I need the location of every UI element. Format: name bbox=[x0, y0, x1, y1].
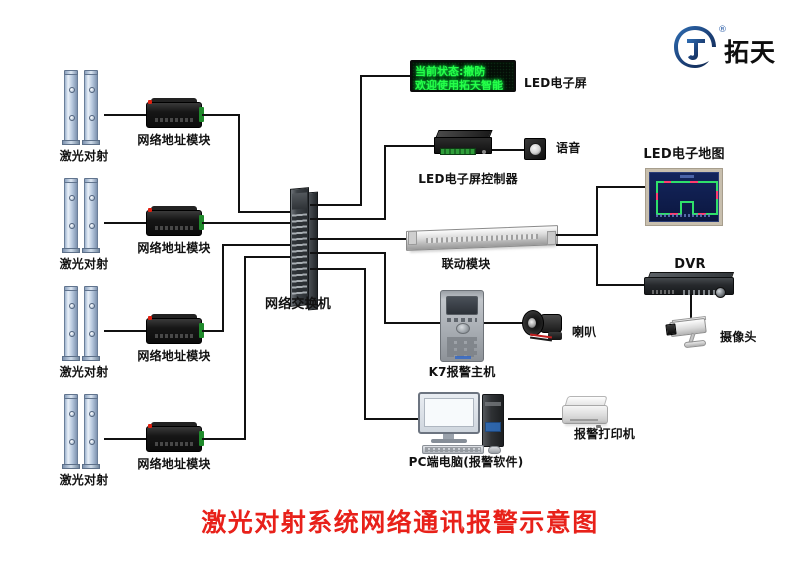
wire-to-led-map bbox=[596, 186, 646, 188]
address-module-label-3: 网络地址模块 bbox=[137, 350, 210, 364]
laser-label-4: 激光对射 bbox=[60, 474, 109, 488]
wire-pc-dropper bbox=[364, 268, 366, 420]
laser-label-3: 激光对射 bbox=[60, 366, 109, 380]
tuotian-logo-icon bbox=[672, 24, 718, 70]
wire-laser4-to-module4 bbox=[104, 438, 146, 440]
laser-beam-device-3 bbox=[62, 288, 106, 362]
led-screen-line2: 欢迎使用拓天智能 bbox=[415, 77, 511, 92]
wire-module2-to-switch bbox=[202, 222, 294, 224]
wire-ledctl-to-voice bbox=[492, 149, 524, 151]
wire-laser2-to-module2 bbox=[104, 222, 146, 224]
wire-ledctl-riser bbox=[384, 145, 386, 220]
wire-to-alarm-host bbox=[384, 322, 440, 324]
alarm-printer bbox=[562, 396, 610, 428]
address-module-3 bbox=[146, 314, 202, 347]
wire-ledmap-riser bbox=[596, 186, 598, 236]
camera-device bbox=[664, 318, 716, 352]
brand-logo: ® 拓天 bbox=[672, 24, 792, 74]
address-module-label-2: 网络地址模块 bbox=[137, 242, 210, 256]
wire-laser1-to-module1 bbox=[104, 114, 146, 116]
led-screen-controller bbox=[434, 130, 494, 160]
dvr-label: DVR bbox=[674, 258, 705, 273]
wire-switch-out-5 bbox=[310, 268, 366, 270]
wire-dvr-dropper bbox=[596, 244, 598, 286]
pc-workstation bbox=[418, 392, 514, 454]
wire-module3-riser bbox=[222, 244, 224, 332]
wire-module1-riser bbox=[238, 114, 240, 213]
wire-to-pc bbox=[364, 418, 420, 420]
address-module-label-4: 网络地址模块 bbox=[137, 458, 210, 472]
led-screen-label: LED电子屏 bbox=[524, 77, 587, 91]
pc-label: PC端电脑(报警软件) bbox=[409, 456, 524, 470]
wire-module1-out bbox=[202, 114, 240, 116]
led-controller-label: LED电子屏控制器 bbox=[418, 173, 518, 187]
company-name: 拓天 bbox=[724, 33, 776, 69]
linkage-module bbox=[406, 228, 558, 252]
printer-label: 报警打印机 bbox=[574, 428, 635, 442]
wire-laser3-to-module3 bbox=[104, 330, 146, 332]
laser-beam-device-4 bbox=[62, 396, 106, 470]
wire-ledscreen-riser bbox=[360, 75, 362, 206]
laser-beam-device-2 bbox=[62, 180, 106, 254]
led-electronic-map bbox=[645, 168, 723, 226]
horn-label: 喇叭 bbox=[572, 326, 596, 340]
voice-module bbox=[524, 138, 546, 160]
wire-module3-to-switch bbox=[222, 244, 294, 246]
network-switch bbox=[290, 188, 320, 310]
address-module-2 bbox=[146, 206, 202, 239]
wire-linkage-out-up bbox=[556, 234, 598, 236]
wire-switch-out-1 bbox=[310, 204, 362, 206]
diagram-canvas: ® 拓天 激光对射 网络地址模块 激光对射 网络地址模块 激光对射 网络地址模块 bbox=[0, 0, 800, 579]
laser-label-2: 激光对射 bbox=[60, 258, 109, 272]
wire-module4-riser bbox=[244, 256, 246, 440]
wire-switch-to-linkage bbox=[310, 238, 406, 240]
laser-label-1: 激光对射 bbox=[60, 150, 109, 164]
address-module-4 bbox=[146, 422, 202, 455]
laser-beam-device-1 bbox=[62, 72, 106, 146]
k7-alarm-host bbox=[440, 290, 484, 362]
wire-k7-dropper bbox=[384, 252, 386, 324]
wire-module4-to-switch bbox=[244, 256, 294, 258]
wire-module3-out bbox=[202, 330, 224, 332]
address-module-1 bbox=[146, 98, 202, 131]
diagram-title: 激光对射系统网络通讯报警示意图 bbox=[201, 503, 599, 539]
wire-module4-out bbox=[202, 438, 246, 440]
led-map-label: LED电子地图 bbox=[643, 148, 724, 163]
alarm-host-label: K7报警主机 bbox=[429, 366, 496, 380]
wire-k7-to-horn bbox=[484, 322, 524, 324]
voice-label: 语音 bbox=[556, 142, 580, 156]
wire-to-dvr bbox=[596, 284, 644, 286]
address-module-label-1: 网络地址模块 bbox=[137, 134, 210, 148]
wire-switch-out-2 bbox=[310, 218, 386, 220]
wire-linkage-out-down bbox=[556, 244, 598, 246]
camera-label: 摄像头 bbox=[720, 331, 757, 345]
wire-pc-to-printer bbox=[508, 418, 564, 420]
wire-to-led-controller bbox=[384, 145, 434, 147]
wire-switch-out-4 bbox=[310, 252, 386, 254]
horn-speaker bbox=[522, 308, 570, 342]
wire-module1-to-switch bbox=[238, 211, 294, 213]
wire-to-led-screen bbox=[360, 75, 410, 77]
linkage-module-label: 联动模块 bbox=[442, 258, 491, 272]
switch-label: 网络交换机 bbox=[265, 298, 331, 313]
led-display-screen: 当前状态:撤防 欢迎使用拓天智能 bbox=[410, 60, 516, 92]
